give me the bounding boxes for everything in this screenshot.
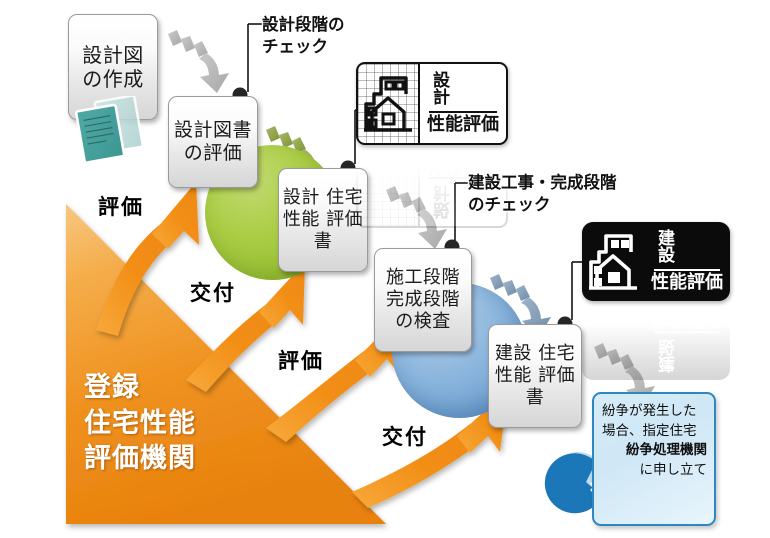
callout-construction-stage-check: 建設工事・完成段階 のチェック (468, 172, 617, 216)
box-design-drawing-label: 設計図 の作成 (69, 43, 157, 92)
registered-agency-label: 登録 住宅性能 評価機関 (84, 370, 196, 477)
design-logo-bottom-text: 性能評価 (427, 116, 499, 134)
box-design-performance-certificate[interactable]: 設計 住宅性能 評価書 (278, 168, 368, 272)
design-logo-divider (429, 111, 496, 114)
construction-logo-bottom-text: 性能評価 (651, 274, 723, 292)
dispute-resolution-box[interactable]: 紛争が発生した 場合、指定住宅 紛争処理機関 に申し立て (592, 392, 716, 526)
dispute-line-3: 紛争処理機関 (602, 441, 707, 461)
dispute-line-1: 紛争が発生した (602, 402, 707, 422)
dispute-line-2-bold: 指定住宅 (643, 423, 697, 439)
construction-logo-reflection: 建 設 性能評価 (582, 301, 730, 380)
design-logo-top-text: 設 計 (424, 73, 502, 107)
box-construction-performance-certificate-label: 建設 住宅性能 評価書 (489, 343, 581, 409)
flow-label-delivery-2: 交付 (382, 421, 428, 451)
flow-label-delivery-1: 交付 (190, 277, 236, 307)
arrow-step-3 (386, 186, 447, 249)
blueprint-papers-icon (72, 96, 148, 168)
dispute-line-2-plain: 場合、 (602, 423, 643, 439)
diagram-canvas: 設計図 の作成 設計図書 の評価 設計 住宅性能 評価書 施工段階 完成段階 の… (0, 0, 770, 538)
flow-label-evaluation-1: 評価 (98, 191, 144, 221)
house-blueprint-icon (358, 64, 420, 143)
flow-label-evaluation-2: 評価 (278, 345, 324, 375)
box-construction-inspection-label: 施工段階 完成段階 の検査 (375, 267, 471, 333)
box-design-doc-evaluation[interactable]: 設計図書 の評価 (168, 96, 258, 188)
box-construction-inspection[interactable]: 施工段階 完成段階 の検査 (374, 248, 472, 352)
construction-performance-logo: 建 設 性能評価 建 設 性能評価 (582, 222, 730, 301)
arrow-step-1 (168, 30, 229, 93)
design-performance-logo: 設 計 性能評価 設 計 性能評価 (356, 62, 508, 145)
house-building-icon (582, 222, 644, 301)
dispute-line-2: 場合、指定住宅 (602, 422, 707, 442)
callout-design-stage-check: 設計段階の チェック (262, 14, 345, 58)
construction-logo-top-text: 建 設 (649, 231, 725, 265)
construction-logo-divider (654, 269, 721, 272)
box-design-doc-evaluation-label: 設計図書 の評価 (169, 119, 257, 165)
dispute-line-4: に申し立て (602, 461, 707, 481)
box-construction-performance-certificate[interactable]: 建設 住宅性能 評価書 (488, 324, 582, 428)
box-design-performance-certificate-label: 設計 住宅性能 評価書 (279, 187, 367, 253)
